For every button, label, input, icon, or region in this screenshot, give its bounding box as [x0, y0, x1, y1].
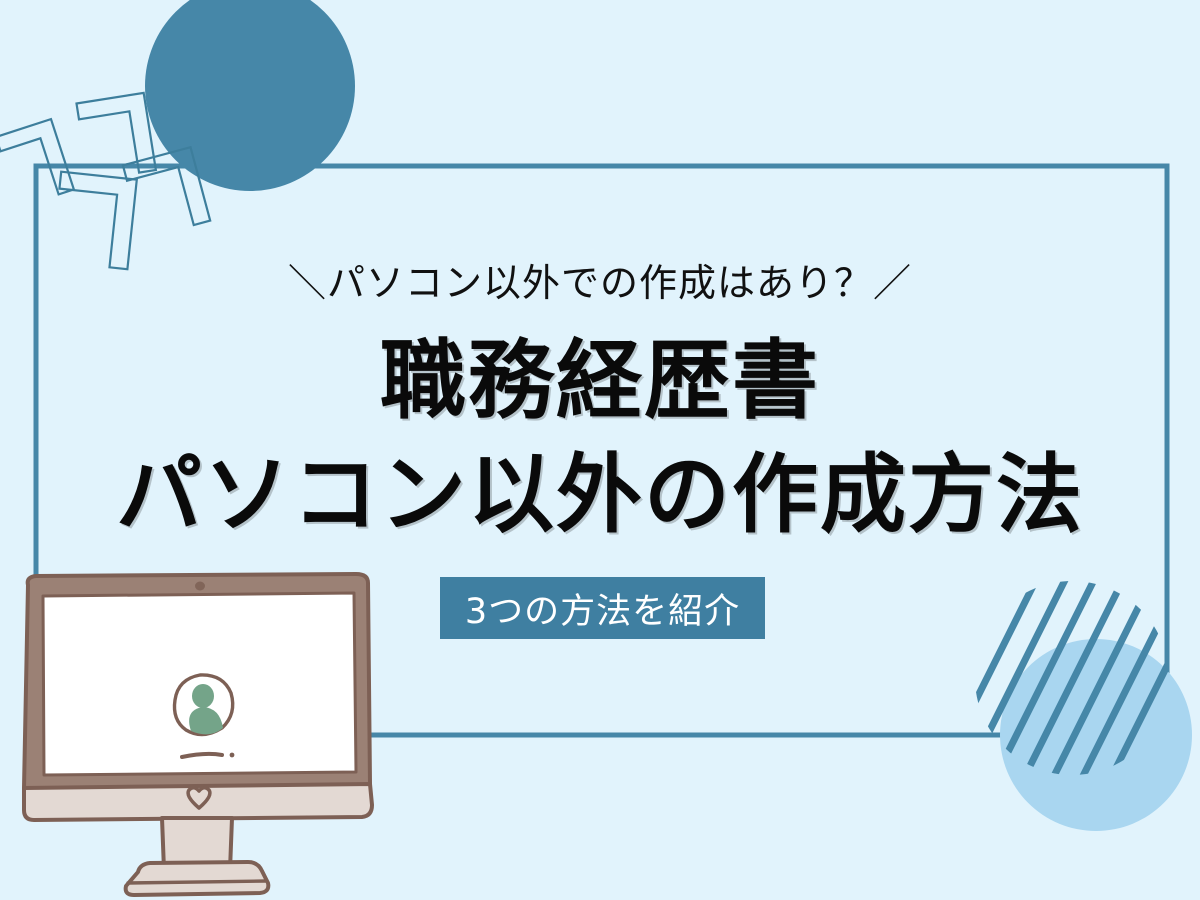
page-title-line-2: パソコン以外の作成方法 [0, 452, 1200, 538]
highlight-badge: 3つの方法を紹介 [440, 577, 765, 639]
highlight-badge-label: 3つの方法を紹介 [465, 583, 740, 634]
subtitle-text: ＼パソコン以外での作成はあり？／ [0, 252, 1200, 307]
page-title-line-1: 職務経歴書 [0, 338, 1200, 424]
banner-canvas: ＼パソコン以外での作成はあり？／ 職務経歴書 パソコン以外の作成方法 3つの方法… [0, 0, 1200, 900]
headline-group: ＼パソコン以外での作成はあり？／ 職務経歴書 パソコン以外の作成方法 3つの方法… [0, 0, 1200, 900]
